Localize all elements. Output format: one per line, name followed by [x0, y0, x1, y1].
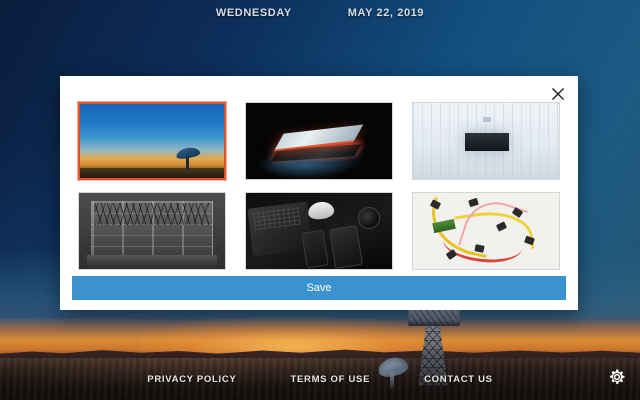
thumbnail-server-rack[interactable] [78, 192, 226, 270]
thumbnail-white-corridor[interactable] [412, 102, 560, 180]
thumbnail-glowing-laptop[interactable] [245, 102, 393, 180]
footer-links: PRIVACY POLICY TERMS OF USE CONTACT US [0, 370, 640, 388]
footer-link-privacy-policy[interactable]: PRIVACY POLICY [147, 374, 236, 385]
thumbnail-image [80, 104, 224, 178]
topbar: WEDNESDAY MAY 22, 2019 [0, 0, 640, 26]
thumbnail-cables[interactable] [412, 192, 560, 270]
desk-mouse-icon [307, 200, 335, 220]
rack-floor [87, 255, 217, 269]
dusk-mast [186, 156, 189, 170]
desk-phone-two [329, 225, 363, 269]
thumbnail-image [413, 103, 559, 179]
corridor-vanishing-point [465, 133, 509, 151]
footer-link-contact-us[interactable]: CONTACT US [424, 374, 493, 385]
dusk-ground [80, 168, 224, 178]
thumbnail-image [246, 103, 392, 179]
gear-icon [607, 367, 627, 387]
desk-phone-one [301, 230, 328, 269]
close-icon [551, 87, 565, 101]
save-button[interactable]: Save [72, 276, 566, 300]
desk-watch-icon [358, 207, 380, 229]
wallpaper-picker-modal: Save [60, 76, 578, 310]
thumbnail-image [413, 193, 559, 269]
topbar-date: MAY 22, 2019 [348, 7, 424, 19]
corridor-lamp [483, 117, 491, 122]
topbar-weekday: WEDNESDAY [216, 7, 292, 19]
settings-button[interactable] [606, 366, 628, 388]
rack-cabling [95, 203, 209, 225]
footer-link-terms-of-use[interactable]: TERMS OF USE [290, 374, 370, 385]
thumbnail-telescope-dusk[interactable] [78, 102, 226, 180]
close-button[interactable] [548, 84, 568, 104]
modal-body: Save [60, 76, 578, 310]
thumbnail-image [79, 193, 225, 269]
thumbnail-image [246, 193, 392, 269]
thumbnail-desk-flatlay[interactable] [245, 192, 393, 270]
wallpaper-thumbnail-grid [78, 102, 560, 270]
desktop: WEDNESDAY MAY 22, 2019 [0, 0, 640, 400]
